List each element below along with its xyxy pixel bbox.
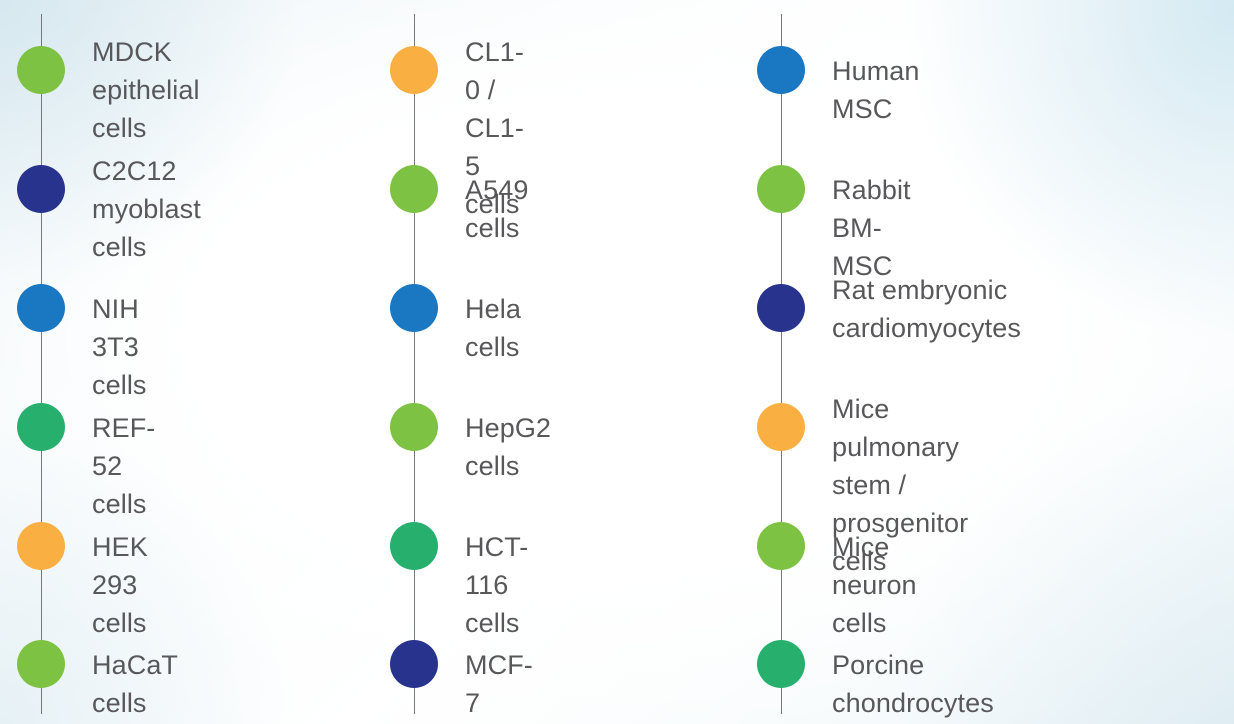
timeline-dot-green <box>17 46 65 94</box>
cell-type-label: Rat embryonic cardiomyocytes <box>832 271 1021 347</box>
cell-type-label: Porcine chondrocytes <box>832 646 994 722</box>
timeline-dot-orange <box>390 46 438 94</box>
timeline-dot-green <box>390 165 438 213</box>
timeline-dot-navy <box>757 284 805 332</box>
infographic-board: MDCK epithelial cellsC2C12 myoblast cell… <box>0 0 1234 724</box>
cell-type-label: Hela cells <box>465 290 521 366</box>
timeline-dot-green <box>17 640 65 688</box>
timeline-dot-orange <box>757 403 805 451</box>
timeline-dot-green <box>757 522 805 570</box>
cell-type-label: NIH 3T3 cells <box>92 290 147 404</box>
cell-type-label: C2C12 myoblast cells <box>92 152 201 266</box>
timeline-dot-navy <box>390 640 438 688</box>
cell-type-label: REF-52 cells <box>92 409 155 523</box>
cell-type-label: MCF-7 cells <box>465 646 533 724</box>
cell-type-label: HaCaT cells <box>92 646 178 722</box>
timeline-dot-orange <box>17 522 65 570</box>
column-axis-line <box>781 14 782 714</box>
timeline-dot-green <box>390 403 438 451</box>
cell-type-label: HepG2 cells <box>465 409 551 485</box>
timeline-dot-blue <box>757 46 805 94</box>
cell-type-label: Human MSC <box>832 52 920 128</box>
timeline-dot-teal <box>390 522 438 570</box>
timeline-dot-teal <box>17 403 65 451</box>
cell-type-label: A549 cells <box>465 171 528 247</box>
timeline-dot-blue <box>390 284 438 332</box>
cell-type-label: Mice neuron cells <box>832 528 917 642</box>
cell-type-label: HCT-116 cells <box>465 528 528 642</box>
column-axis-line <box>414 14 415 714</box>
cell-type-label: Rabbit BM-MSC <box>832 171 911 285</box>
timeline-dot-blue <box>17 284 65 332</box>
timeline-dot-teal <box>757 640 805 688</box>
cell-type-label: HEK 293 cells <box>92 528 148 642</box>
timeline-dot-green <box>757 165 805 213</box>
column-axis-line <box>41 14 42 714</box>
timeline-dot-navy <box>17 165 65 213</box>
cell-type-label: MDCK epithelial cells <box>92 33 200 147</box>
